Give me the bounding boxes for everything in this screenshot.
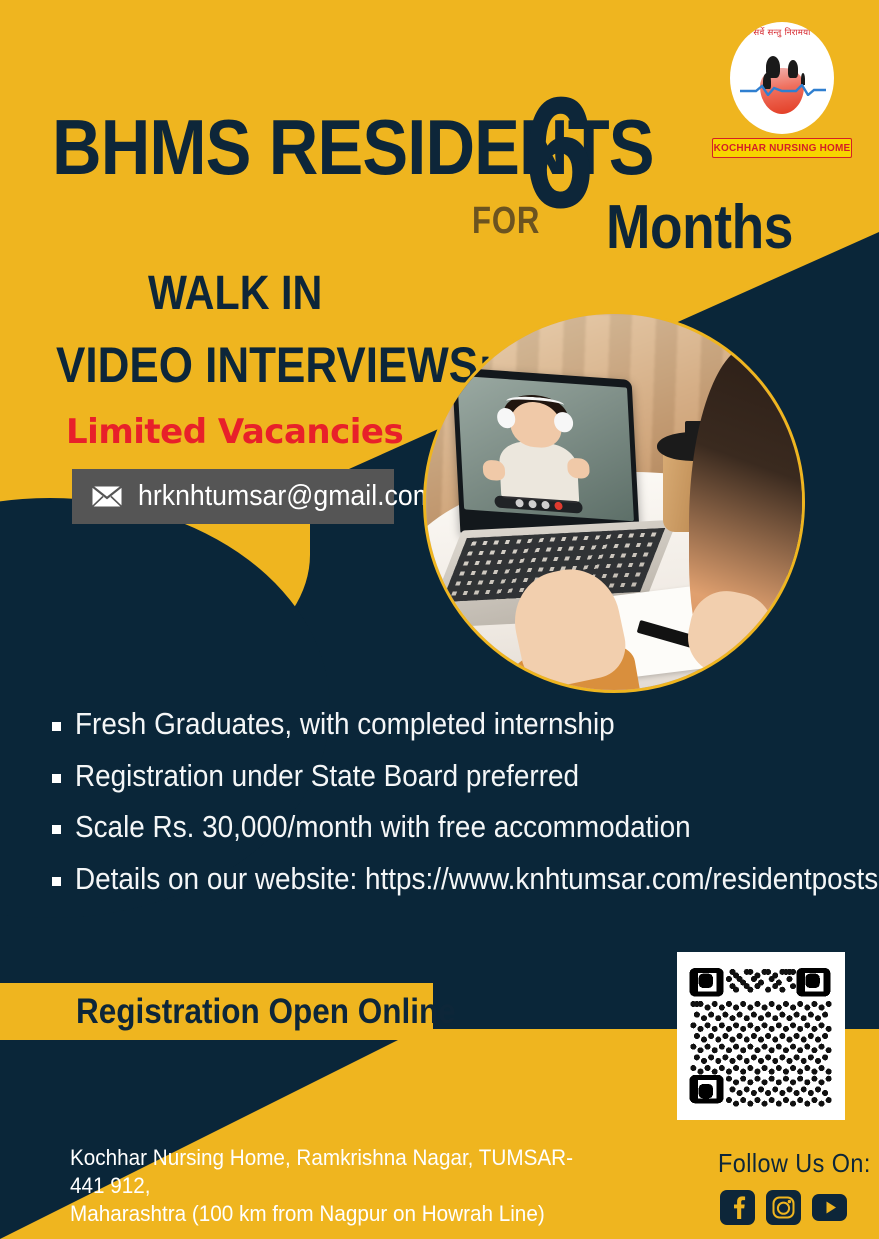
address-line-1: Kochhar Nursing Home, Ramkrishna Nagar, … (70, 1144, 596, 1200)
photo-remote-hand-left (482, 460, 505, 481)
list-item: Details on our website: https://www.knht… (52, 861, 852, 898)
list-item-label: Details on our website: https://www.knht… (75, 861, 879, 898)
qr-code (688, 963, 834, 1109)
ecg-line-icon (740, 84, 826, 96)
photo-remote-person-body (498, 440, 579, 504)
video-interview-photo (423, 311, 805, 693)
registration-banner-label: Registration Open Online (76, 992, 456, 1032)
walk-in-heading: WALK IN (148, 266, 322, 321)
bullet-square-icon (52, 774, 61, 783)
call-end-dot (554, 501, 562, 510)
list-item: Scale Rs. 30,000/month with free accommo… (52, 809, 852, 846)
duration-block: 6 FOR Months (524, 92, 612, 215)
bullet-square-icon (52, 825, 61, 834)
logo-oval-background: । सर्वे सन्तु निरामया । (730, 22, 834, 134)
headline-block: BHMS RESIDENTS (52, 112, 736, 182)
photo-laptop-screen (452, 367, 641, 546)
for-label: FOR (472, 200, 540, 243)
list-item-label: Scale Rs. 30,000/month with free accommo… (75, 809, 691, 846)
list-item: Registration under State Board preferred (52, 758, 852, 795)
bullet-square-icon (52, 877, 61, 886)
instagram-icon[interactable] (766, 1190, 801, 1225)
facebook-icon[interactable] (720, 1190, 755, 1225)
qr-code-card[interactable] (677, 952, 845, 1120)
requirements-list: Fresh Graduates, with completed internsh… (52, 706, 852, 912)
call-toolbar-dot (528, 500, 536, 509)
recruitment-poster: । सर्वे सन्तु निरामया । KOCHHAR NURSING … (0, 0, 879, 1239)
list-item: Fresh Graduates, with completed internsh… (52, 706, 852, 743)
logo-sanskrit-text: । सर्वे सन्तु निरामया । (730, 29, 834, 38)
qr-code-image (688, 963, 834, 1109)
bullet-square-icon (52, 722, 61, 731)
list-item-label: Fresh Graduates, with completed internsh… (75, 706, 615, 743)
clinic-address: Kochhar Nursing Home, Ramkrishna Nagar, … (70, 1144, 596, 1228)
address-line-2: Maharashtra (100 km from Nagpur on Howra… (70, 1200, 596, 1228)
follow-us-label: Follow Us On: (718, 1148, 871, 1179)
duration-number: 6 (524, 92, 594, 215)
call-toolbar-dot (541, 501, 549, 510)
social-links (720, 1190, 847, 1225)
call-toolbar-dot (515, 499, 523, 508)
months-label: Months (606, 192, 793, 263)
email-contact-bar[interactable]: hrknhtumsar@gmail.com (72, 469, 394, 524)
email-address-text: hrknhtumsar@gmail.com (138, 480, 435, 513)
photo-video-call-window (458, 376, 634, 521)
list-item-label: Registration under State Board preferred (75, 758, 579, 795)
envelope-icon (92, 486, 122, 507)
limited-vacancies-text: Limited Vacancies (66, 412, 403, 452)
youtube-icon[interactable] (812, 1190, 847, 1225)
registration-banner[interactable]: Registration Open Online (0, 983, 433, 1040)
